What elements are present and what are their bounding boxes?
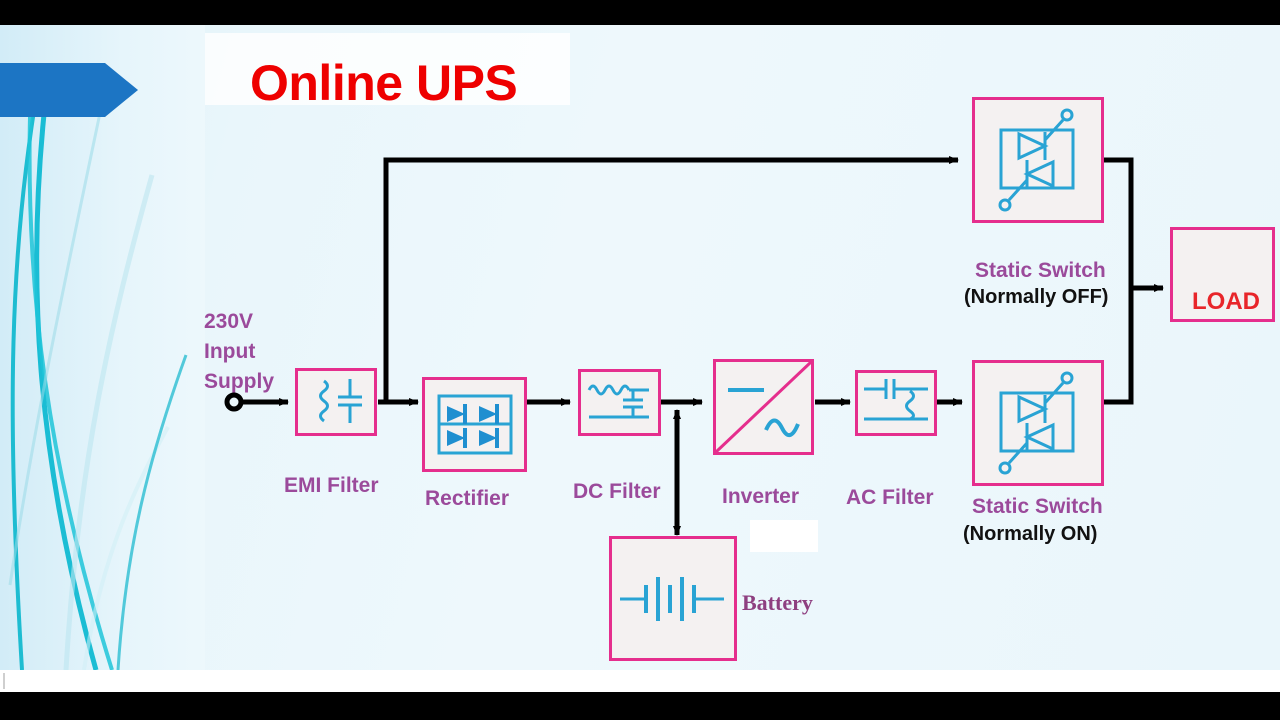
block-static-switch-bottom[interactable] <box>972 360 1104 486</box>
block-battery[interactable] <box>609 536 737 661</box>
label-source-line2: Input <box>204 340 255 364</box>
blank-white-patch <box>750 520 818 552</box>
label-source-line1: 230V <box>204 310 253 334</box>
bottom-strip-tick <box>3 673 5 689</box>
dc-to-ac-icon <box>716 362 811 452</box>
slide-canvas: Online UPS <box>0 25 1280 670</box>
block-inverter[interactable] <box>713 359 814 455</box>
lc-lowpass-icon <box>581 372 658 433</box>
label-battery: Battery <box>742 590 813 616</box>
label-inverter: Inverter <box>722 485 799 509</box>
input-terminal-dot <box>227 395 241 409</box>
label-ac-filter: AC Filter <box>846 486 934 510</box>
block-ac-filter[interactable] <box>855 370 937 436</box>
top-letterbox-bar <box>0 0 1280 25</box>
label-load: LOAD <box>1192 288 1260 316</box>
label-source-line3: Supply <box>204 370 274 394</box>
bottom-white-strip <box>0 670 1280 692</box>
label-emi-filter: EMI Filter <box>284 474 379 498</box>
label-static-switch-bottom-state: (Normally ON) <box>963 523 1097 546</box>
label-static-switch-top-state: (Normally OFF) <box>964 286 1108 309</box>
antiparallel-thyristors-icon <box>975 363 1101 483</box>
label-rectifier: Rectifier <box>425 487 509 511</box>
wire-static-switch-top-to-bus <box>1104 160 1131 288</box>
block-static-switch-top[interactable] <box>972 97 1104 223</box>
diode-bridge-icon <box>425 380 524 469</box>
block-dc-filter[interactable] <box>578 369 661 436</box>
capacitor-inductor-icon <box>858 373 934 433</box>
bottom-letterbox-bar <box>0 692 1280 720</box>
wire-bypass-to-static-switch-top <box>386 160 958 402</box>
antiparallel-thyristors-icon <box>975 100 1101 220</box>
inductor-capacitor-icon <box>298 371 374 433</box>
block-emi-filter[interactable] <box>295 368 377 436</box>
label-static-switch-bottom: Static Switch <box>972 495 1103 519</box>
slide-stage: Online UPS <box>0 0 1280 720</box>
label-dc-filter: DC Filter <box>573 480 661 504</box>
block-rectifier[interactable] <box>422 377 527 472</box>
battery-cells-icon <box>612 539 734 658</box>
label-static-switch-top: Static Switch <box>975 259 1106 283</box>
